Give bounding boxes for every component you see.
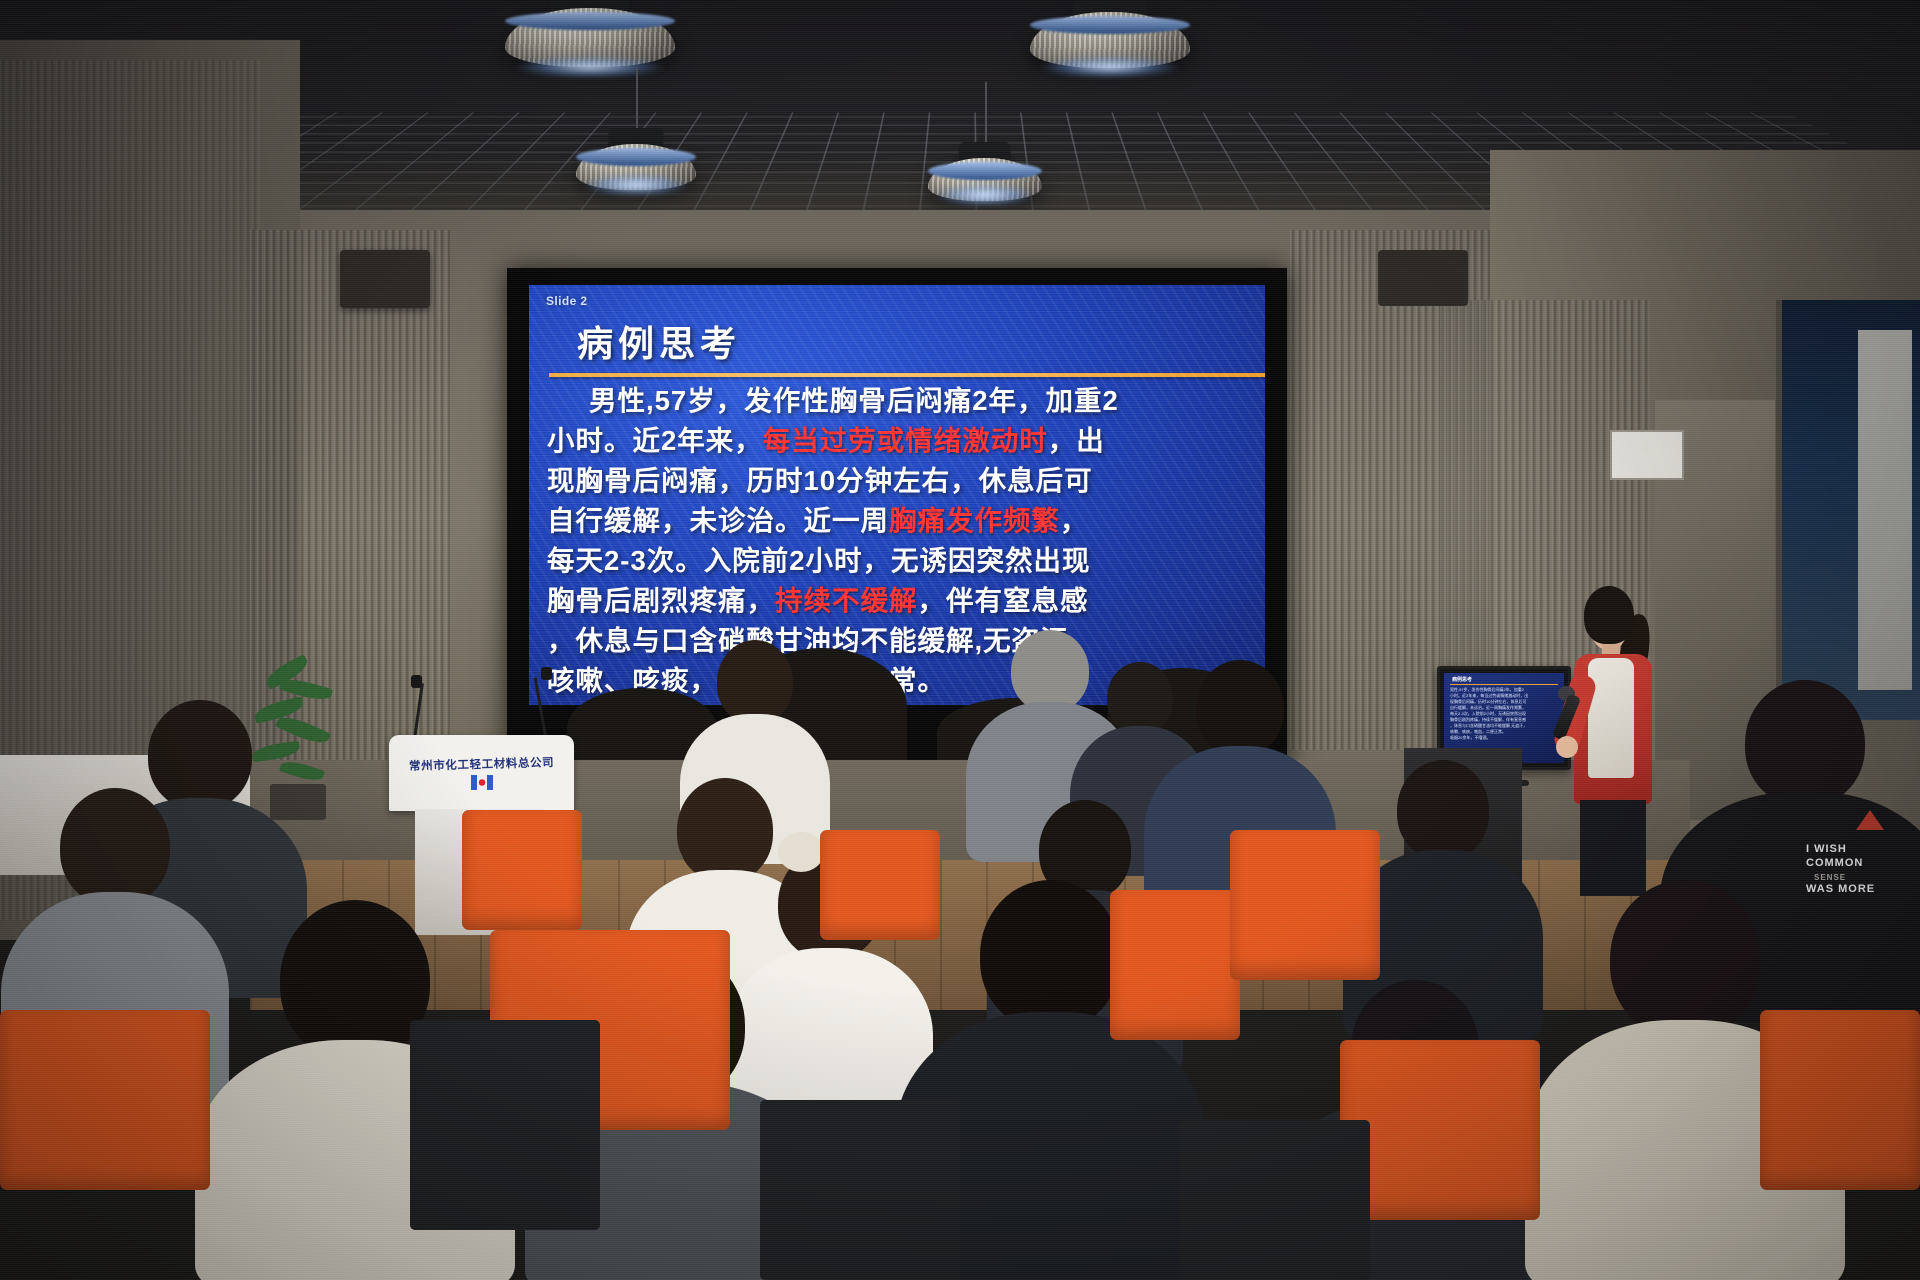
pendant-lamp: [576, 128, 696, 190]
podium-sign-text: 常州市化工轻工材料总公司: [409, 754, 555, 774]
presenter-vest: [1588, 658, 1634, 778]
seat[interactable]: [820, 830, 940, 940]
audience-member: [1358, 760, 1528, 1010]
seat-back[interactable]: [1180, 1120, 1370, 1280]
seat[interactable]: [1230, 830, 1380, 980]
presenter: [1558, 586, 1678, 886]
podium-faceplate: 常州市化工轻工材料总公司: [389, 735, 574, 811]
wall-notice-board: [1610, 430, 1684, 480]
presenter-hand: [1556, 736, 1578, 758]
lecture-room-photo: Slide 2 病例思考 男性,57岁，发作性胸骨后闷痛2年，加重2小时。近2年…: [0, 0, 1920, 1280]
monitor-title: 病例思考: [1452, 676, 1564, 683]
jacket-print-line: SENSE: [1814, 872, 1846, 883]
slide-title: 病例思考: [577, 315, 741, 367]
seat[interactable]: [0, 1010, 210, 1190]
company-logo-icon: [471, 775, 493, 790]
jacket-graphic: I WISH COMMON SENSE WAS MORE: [1802, 810, 1920, 920]
slide-line: 胸骨后剧烈疼痛，持续不缓解，伴有窒息感: [547, 581, 1253, 621]
monitor-divider: [1450, 684, 1558, 685]
slide-line: 小时。近2年来，每当过劳或情绪激动时，出: [547, 421, 1253, 461]
jacket-print-line: WAS MORE: [1806, 884, 1875, 895]
seat[interactable]: [1760, 1010, 1920, 1190]
title-divider: [549, 373, 1265, 377]
seat[interactable]: [462, 810, 582, 930]
microphone-icon: [541, 667, 552, 680]
slide-body-text: 男性,57岁，发作性胸骨后闷痛2年，加重2小时。近2年来，每当过劳或情绪激动时，…: [547, 381, 1253, 705]
ceiling-speaker: [1378, 250, 1468, 306]
presentation-slide: Slide 2 病例思考 男性,57岁，发作性胸骨后闷痛2年，加重2小时。近2年…: [529, 285, 1265, 705]
monitor-body-text: 男性,57岁，发作性胸骨后闷痛2年，加重2小时。近2年来，每当过劳或情绪激动时，…: [1444, 687, 1564, 741]
slide-line: 自行缓解，未诊治。近一周胸痛发作频繁，: [547, 501, 1253, 541]
ceiling-speaker: [340, 250, 430, 308]
pendant-lamp: [505, 0, 675, 72]
pendant-lamp: [928, 142, 1042, 200]
monitor-line: 吸烟20余年，不嗜酒。: [1450, 735, 1564, 741]
seat[interactable]: [1110, 890, 1240, 1040]
slide-number-label: Slide 2: [546, 294, 587, 308]
seat[interactable]: [1340, 1040, 1540, 1220]
hair-tie: [778, 832, 824, 872]
slide-line: 每天2-3次。入院前2小时，无诱因突然出现: [547, 541, 1253, 581]
seat-back[interactable]: [760, 1100, 960, 1280]
seat-back[interactable]: [410, 1020, 600, 1230]
slide-line: ，休息与口含硝酸甘油均不能缓解,无盗汗，: [547, 621, 1253, 661]
presenter-hair: [1584, 586, 1634, 644]
jacket-print-line: COMMON: [1806, 858, 1863, 869]
microphone-icon: [411, 675, 422, 688]
star-icon: [1856, 810, 1884, 830]
slide-line: 男性,57岁，发作性胸骨后闷痛2年，加重2: [547, 381, 1253, 421]
pendant-lamp: [1030, 0, 1190, 72]
slide-line: 现胸骨后闷痛，历时10分钟左右，休息后可: [547, 461, 1253, 501]
jacket-print-line: I WISH: [1806, 844, 1847, 855]
window-glare: [1858, 330, 1912, 690]
